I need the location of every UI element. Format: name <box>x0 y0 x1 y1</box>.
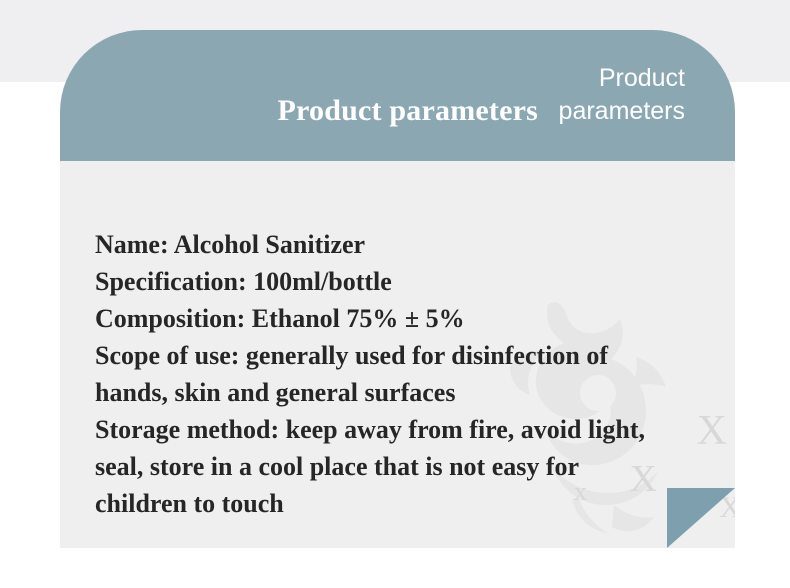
spec-line: children to touch <box>95 485 705 522</box>
card-header: Product parameters Product parameters <box>60 30 735 161</box>
page-title: Product parameters <box>60 96 538 126</box>
product-parameters-page: Product parameters Product parameters <box>0 0 790 588</box>
spec-line: hands, skin and general surfaces <box>95 374 705 411</box>
spec-line: Storage method: keep away from fire, avo… <box>95 411 705 448</box>
header-sublabel-line2: parameters <box>490 95 685 128</box>
product-spec-list: Name: Alcohol Sanitizer Specification: 1… <box>95 226 705 522</box>
header-sublabel: Product parameters <box>490 62 685 128</box>
spec-line: Name: Alcohol Sanitizer <box>95 226 705 263</box>
header-sublabel-line1: Product <box>599 64 685 92</box>
spec-line: seal, store in a cool place that is not … <box>95 448 705 485</box>
corner-fold-decoration <box>667 488 735 548</box>
card-body: X X x X Name: Alcohol Sanitizer Specific… <box>60 161 735 548</box>
spec-line: Scope of use: generally used for disinfe… <box>95 337 705 374</box>
spec-line: Composition: Ethanol 75% ± 5% <box>95 300 705 337</box>
product-parameters-card: Product parameters Product parameters <box>60 30 735 548</box>
spec-line: Specification: 100ml/bottle <box>95 263 705 300</box>
